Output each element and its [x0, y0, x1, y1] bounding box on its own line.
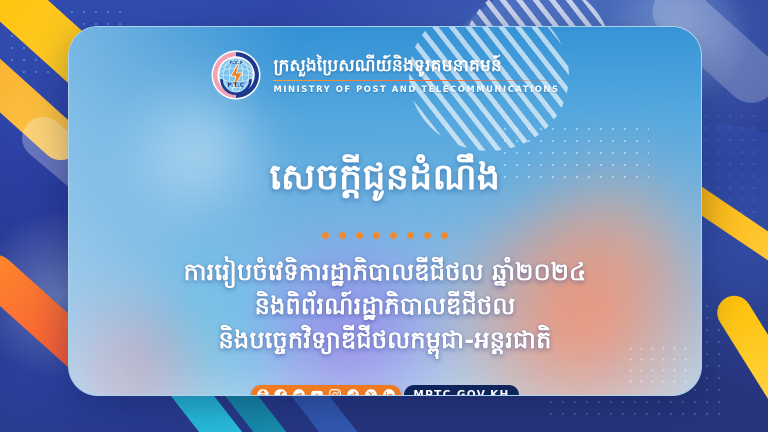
body-line: ការរៀបចំវេទិការដ្ឋាភិបាលឌីជីថល ឆ្នាំ២០២៤	[69, 255, 701, 289]
header-divider-rule	[273, 80, 559, 82]
svg-text:ក.ប.ទ: ក.ប.ទ	[230, 60, 242, 66]
mptc-emblem-logo: ក.ប.ទ P.T.C	[210, 49, 262, 101]
ministry-header: ក.ប.ទ P.T.C ក្រសួងប្រៃសណីយ៍និងទូរគមនាគមន…	[69, 49, 701, 101]
separator-dot	[390, 232, 397, 239]
announcement-body: ការរៀបចំវេទិការដ្ឋាភិបាលឌីជីថល ឆ្នាំ២០២៤…	[69, 255, 701, 357]
separator-dot	[339, 232, 346, 239]
facebook-icon[interactable]	[273, 387, 289, 396]
separator-dot	[441, 232, 448, 239]
social-footer: MPTC.GOV.KH	[69, 385, 701, 396]
instagram-icon[interactable]	[327, 387, 343, 396]
separator-dot	[373, 232, 380, 239]
page-title: សេចក្តីជូនដំណឹង	[69, 155, 701, 200]
header-text-block: ក្រសួងប្រៃសណីយ៍និងទូរគមនាគមន៍ MINISTRY O…	[273, 56, 559, 95]
separator-dot	[322, 232, 329, 239]
ministry-name-khmer: ក្រសួងប្រៃសណីយ៍និងទូរគមនាគមន៍	[273, 56, 502, 77]
linkedin-icon[interactable]	[381, 387, 397, 396]
social-icon-bar	[251, 385, 401, 396]
separator-dot	[424, 232, 431, 239]
svg-text:P.T.C: P.T.C	[228, 83, 245, 89]
website-globe-icon[interactable]	[255, 387, 271, 396]
x-twitter-icon[interactable]	[363, 387, 379, 396]
announcement-banner: ក.ប.ទ P.T.C ក្រសួងប្រៃសណីយ៍និងទូរគមនាគមន…	[0, 0, 768, 432]
body-line: និងពិព័រណ៍រដ្ឋាភិបាលឌីជីថល	[69, 289, 701, 323]
separator-dot	[356, 232, 363, 239]
separator-dot	[407, 232, 414, 239]
tiktok-icon[interactable]	[345, 387, 361, 396]
glass-card: ក.ប.ទ P.T.C ក្រសួងប្រៃសណីយ៍និងទូរគមនាគមន…	[68, 26, 702, 396]
youtube-icon[interactable]	[309, 387, 325, 396]
telegram-icon[interactable]	[291, 387, 307, 396]
dot-separator	[69, 232, 701, 239]
body-line: និងបច្ចេកវិទ្យាឌីជីថលកម្ពុជា-អន្តរជាតិ	[69, 323, 701, 357]
ministry-name-english: MINISTRY OF POST AND TELECOMMUNICATIONS	[273, 84, 559, 94]
website-url-pill[interactable]: MPTC.GOV.KH	[404, 385, 518, 396]
